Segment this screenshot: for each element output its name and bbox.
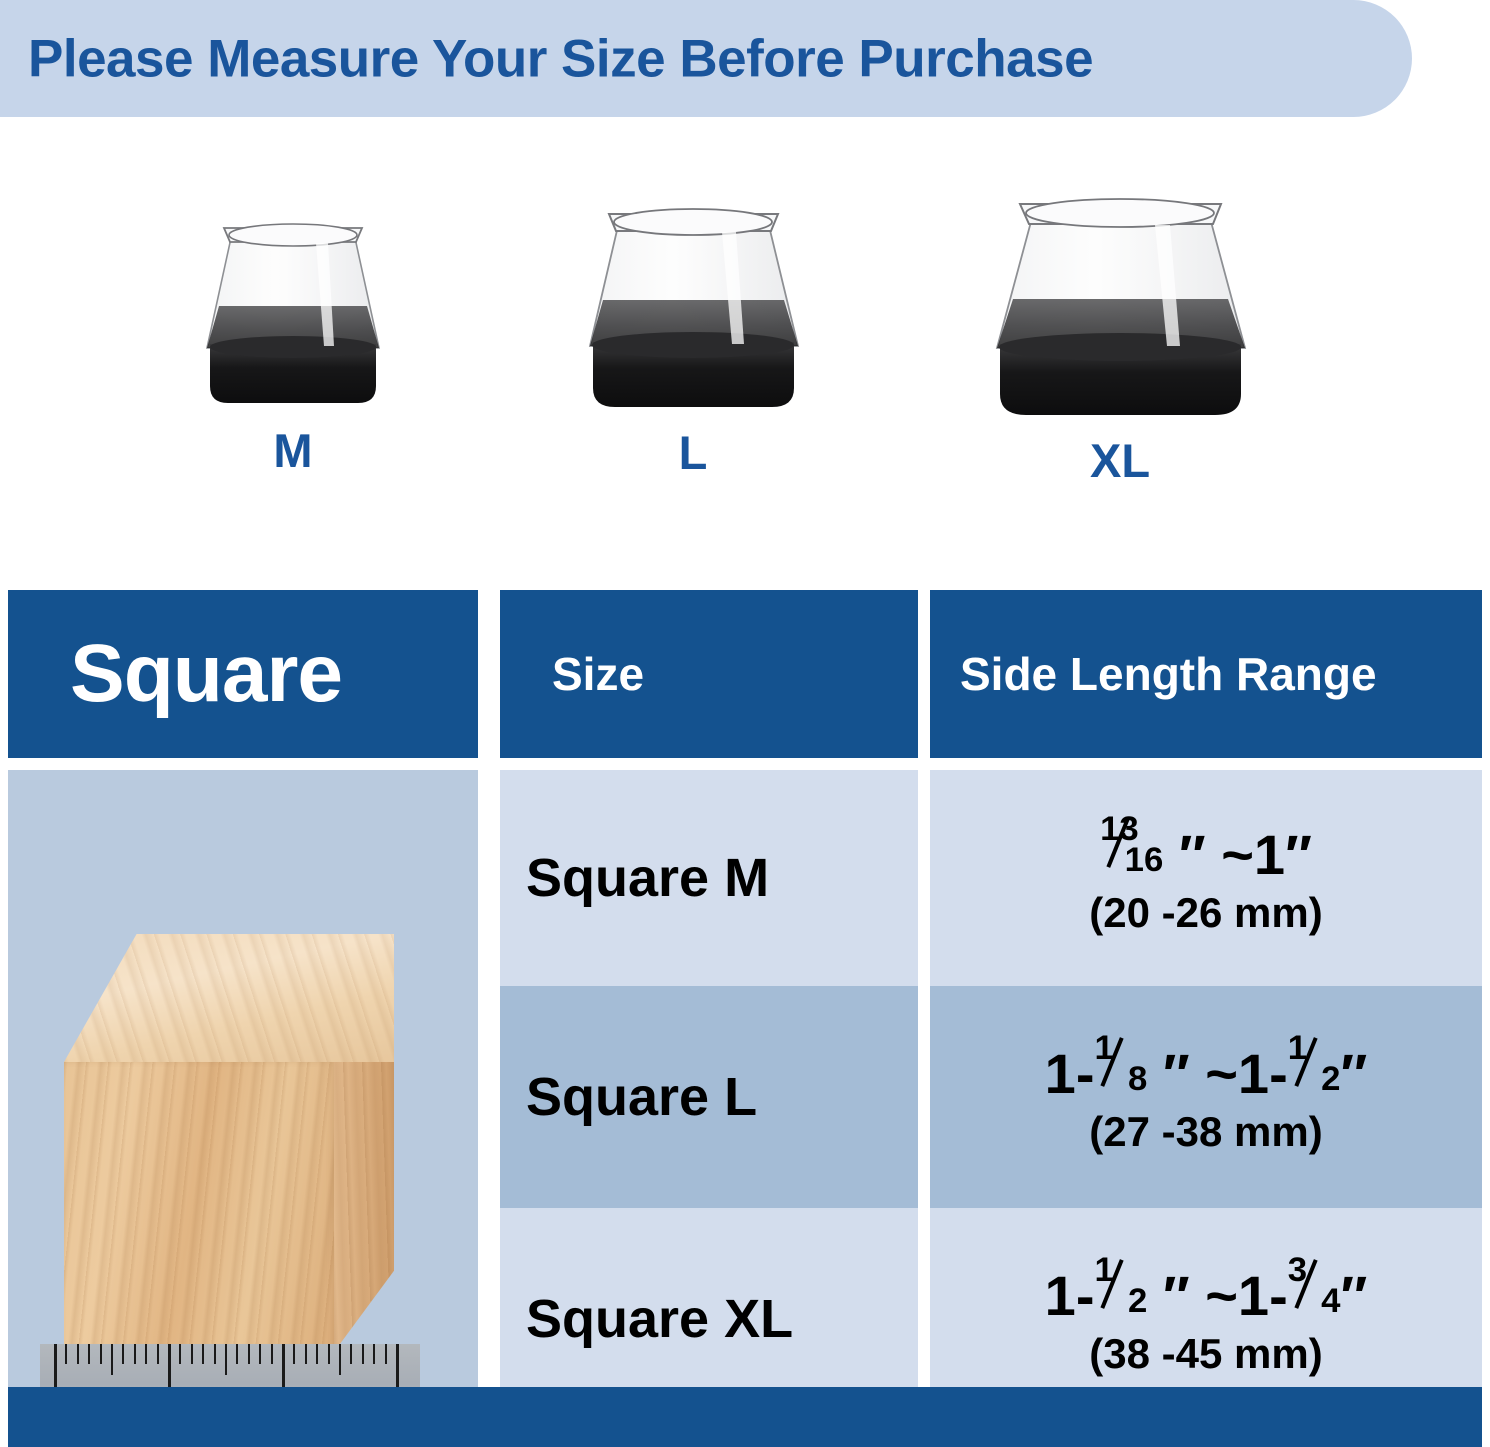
inch-mark-2: ″ [1340,1265,1367,1328]
cap-svg-l [576,180,811,415]
product-xl: XL [955,168,1285,484]
product-l: L [548,180,838,476]
range-to-whole-m: 1 [1254,824,1285,887]
page-title: Please Measure Your Size Before Purchase [28,28,1093,89]
column-gap-1-body [478,770,500,1430]
fraction-3-4: 3 4 [1288,1259,1341,1315]
fraction-1-2: 1 2 [1094,1259,1147,1315]
range-mm-xl: (38 -45 mm) [1089,1330,1322,1378]
inch-mark-2: ″ [1285,824,1312,887]
product-m: M [168,198,418,474]
chair-leg-cap-icon-m [198,198,388,413]
column-gap-1 [478,590,500,758]
cap-svg-xl [980,168,1260,423]
header-body-spacer [8,758,1482,770]
range-to-whole-l: 1 [1238,1043,1269,1106]
tilde: ~ [1221,824,1254,887]
header-size: Size [500,590,918,758]
product-showcase: M [0,150,1490,550]
table-header-row: Square Size Side Length Range [8,590,1482,758]
range-from-whole-xl: 1 [1045,1265,1076,1328]
range-column: 13 16 ″ ~1″ (20 -26 mm) 1- 1 [930,770,1482,1430]
range-inches-m: 13 16 ″ ~1″ [1100,818,1312,885]
fraction-1-2: 1 2 [1288,1037,1341,1093]
size-cell-m: Square M [500,770,918,986]
product-label-xl: XL [955,437,1285,484]
tilde: ~ [1205,1043,1238,1106]
product-label-m: M [168,427,418,474]
chair-leg-cap-icon-xl [980,168,1260,423]
inch-mark: ″ [1163,1043,1190,1106]
range-to-whole-xl: 1 [1238,1265,1269,1328]
wood-front-face [64,1062,334,1352]
product-label-l: L [548,429,838,476]
fraction-13-16: 13 16 [1100,818,1163,874]
range-mm-l: (27 -38 mm) [1089,1108,1322,1156]
wood-top-face [64,934,394,1062]
footer-bar [8,1387,1482,1447]
chair-leg-cap-icon-l [576,180,811,415]
wood-side-face [334,1062,394,1352]
size-column: Square M Square L Square XL [500,770,918,1430]
header-banner: Please Measure Your Size Before Purchase [0,0,1412,117]
header-side-length-range: Side Length Range [930,590,1482,758]
range-cell-m: 13 16 ″ ~1″ (20 -26 mm) [930,770,1482,986]
header-shape: Square [8,590,478,758]
range-inches-xl: 1- 1 2 ″ ~1- 3 4 ″ [1045,1259,1368,1326]
size-table: Square Size Side Length Range [8,590,1482,1430]
fraction-1-8: 1 8 [1094,1037,1147,1093]
table-body: 0 1 cm 2 3 Square M Square L Square XL [8,770,1482,1430]
size-cell-l: Square L [500,986,918,1208]
range-mm-m: (20 -26 mm) [1089,889,1322,937]
inch-mark: ″ [1179,824,1206,887]
inch-mark: ″ [1163,1265,1190,1328]
range-cell-l: 1- 1 8 ″ ~1- 1 2 ″ (27 -38 mm) [930,986,1482,1208]
range-from-whole-l: 1 [1045,1043,1076,1106]
column-gap-2-body [918,770,930,1430]
size-chart-page: Please Measure Your Size Before Purchase [0,0,1490,1447]
column-gap-2 [918,590,930,758]
range-inches-l: 1- 1 8 ″ ~1- 1 2 ″ [1045,1037,1368,1104]
tilde: ~ [1205,1265,1238,1328]
cap-svg-m [198,198,388,413]
measurement-illustration-cell: 0 1 cm 2 3 [8,770,478,1430]
wooden-leg-illustration [64,952,394,1352]
inch-mark-2: ″ [1340,1043,1367,1106]
